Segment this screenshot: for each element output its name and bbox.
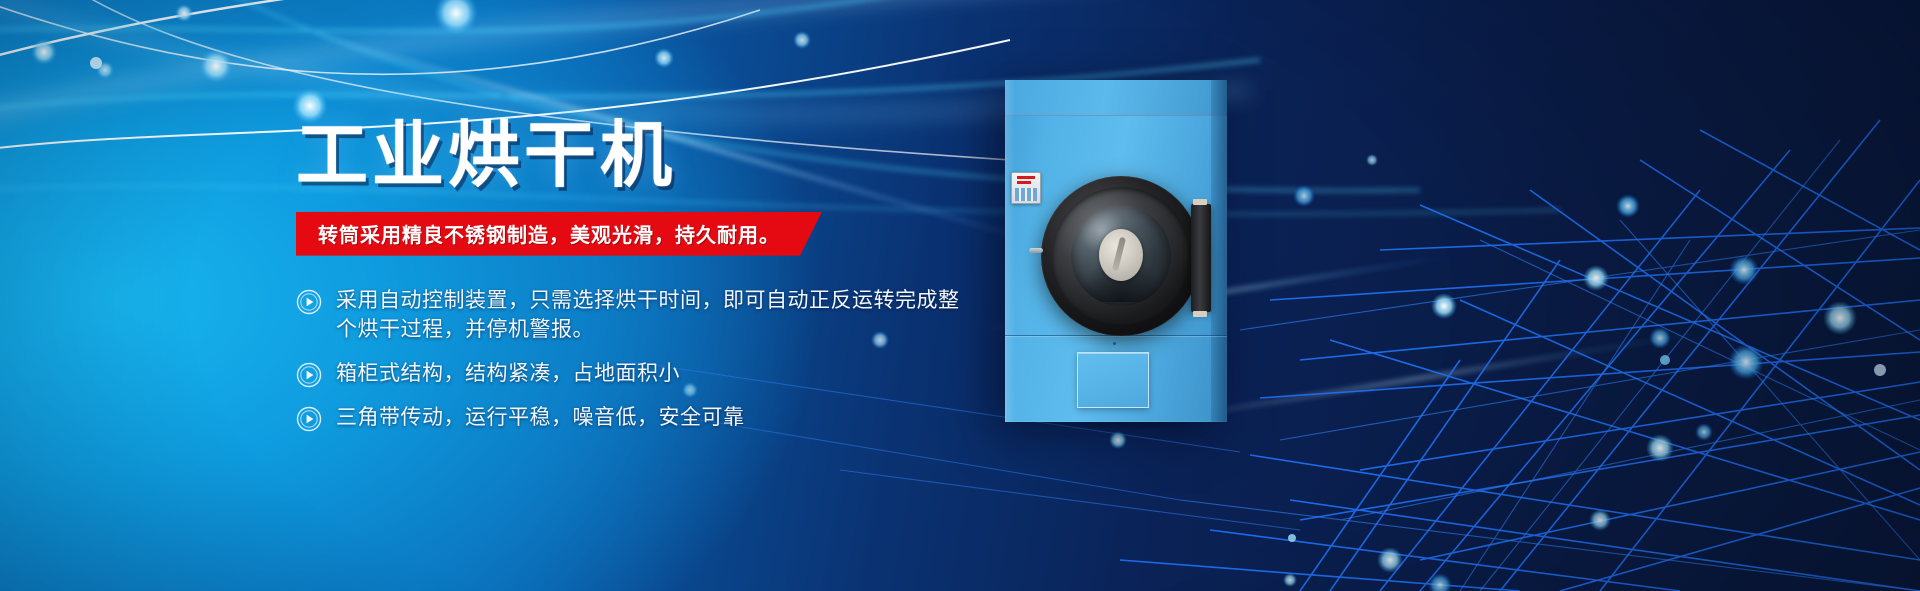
feature-text: 三角带传动，运行平稳，噪音低，安全可靠 [336, 403, 745, 433]
list-item: 三角带传动，运行平稳，噪音低，安全可靠 [296, 403, 1056, 433]
feature-list: 采用自动控制装置，只需选择烘干时间，即可自动正反运转完成整个烘干过程，并停机警报… [296, 286, 1056, 433]
drum-fan-hub [1099, 229, 1143, 281]
list-item: 箱柜式结构，结构紧凑，占地面积小 [296, 359, 1056, 389]
feature-text: 箱柜式结构，结构紧凑，占地面积小 [336, 359, 680, 389]
machine-top-band [1005, 80, 1227, 116]
drum-door [1041, 176, 1201, 336]
hinge-pin-bottom [1193, 311, 1207, 317]
ribbon-container: 转筒采用精良不锈钢制造，美观光滑，持久耐用。 [296, 212, 1056, 256]
highlight-ribbon: 转筒采用精良不锈钢制造，美观光滑，持久耐用。 [296, 212, 822, 256]
list-item: 采用自动控制装置，只需选择烘干时间，即可自动正反运转完成整个烘干过程，并停机警报… [296, 286, 1056, 346]
drum-door-ring [1052, 187, 1190, 325]
drum-door-hinge [1191, 204, 1211, 312]
machine-right-shadow [1211, 80, 1227, 422]
feature-text: 采用自动控制装置，只需选择烘干时间，即可自动正反运转完成整个烘干过程，并停机警报… [336, 286, 976, 346]
play-circle-icon [296, 406, 322, 432]
machine-screw [1113, 342, 1116, 345]
hinge-pin-top [1193, 199, 1207, 205]
banner-content: 工业烘干机 转筒采用精良不锈钢制造，美观光滑，持久耐用。 采用自动控制装置，只需… [296, 118, 1056, 447]
play-circle-icon [296, 289, 322, 315]
page-title: 工业烘干机 [296, 118, 1056, 194]
promo-banner: 工业烘干机 转筒采用精良不锈钢制造，美观光滑，持久耐用。 采用自动控制装置，只需… [0, 0, 1920, 591]
play-circle-icon [296, 362, 322, 388]
ribbon-label: 转筒采用精良不锈钢制造，美观光滑，持久耐用。 [318, 219, 780, 248]
access-panel [1077, 352, 1149, 408]
drum-door-glass [1071, 206, 1171, 306]
